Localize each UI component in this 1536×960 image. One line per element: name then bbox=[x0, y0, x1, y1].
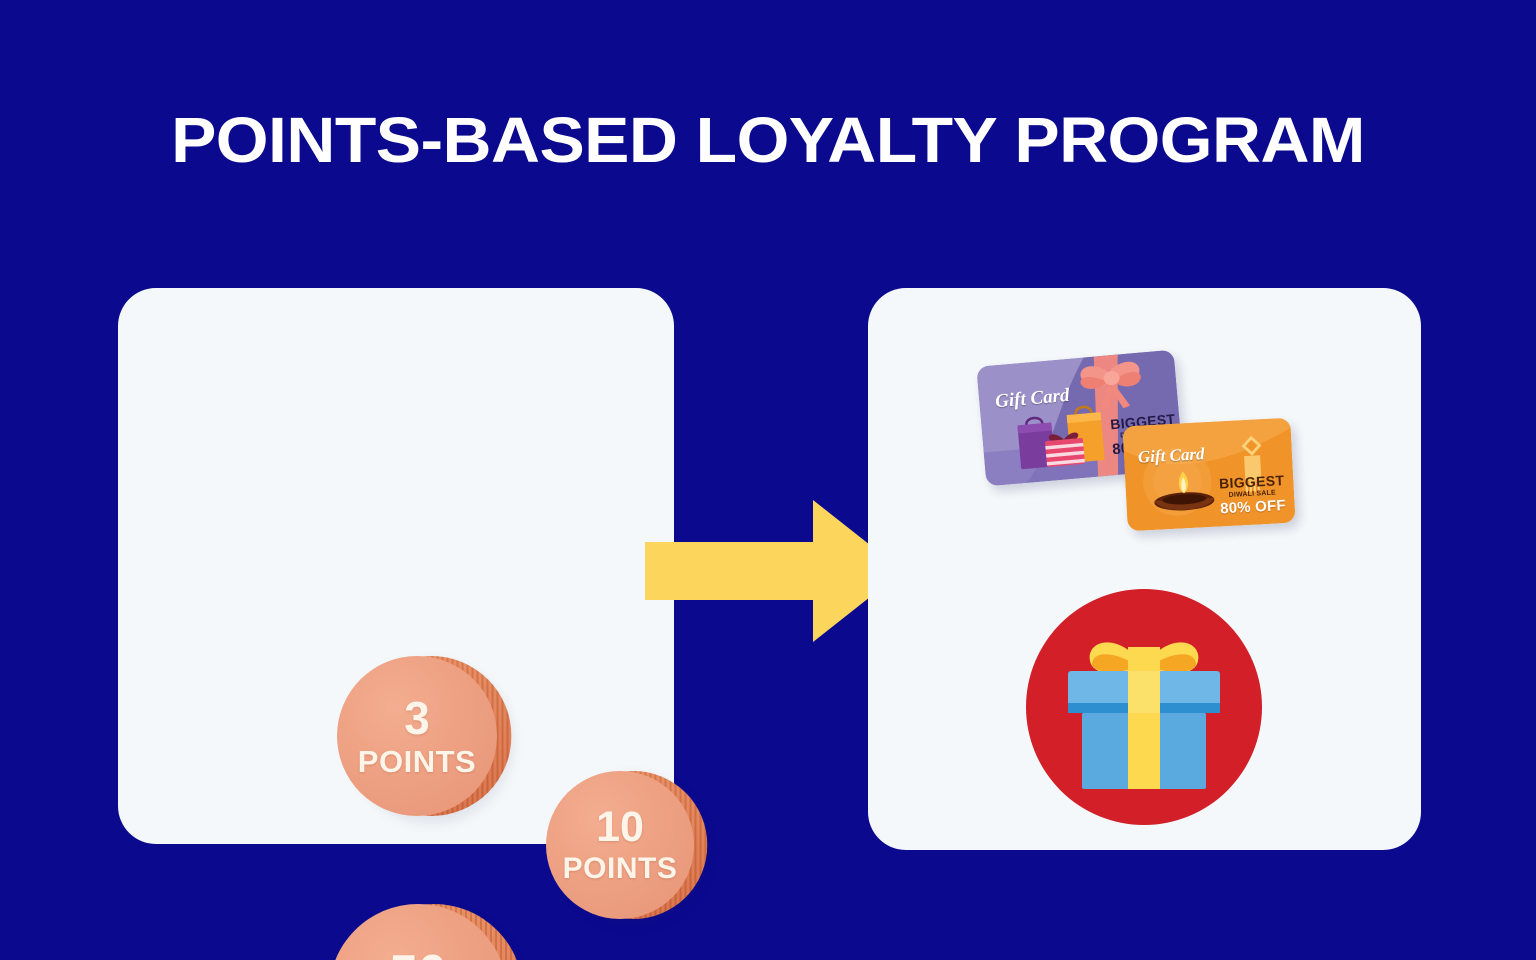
coin-face: 10 POINTS bbox=[546, 771, 694, 919]
earn-points-panel: 3 POINTS 10 POINTS 50 POINTS bbox=[118, 288, 674, 844]
coin-face: 50 POINTS bbox=[329, 904, 507, 960]
coin-face: 3 POINTS bbox=[337, 656, 497, 816]
gift-card-title: Gift Card bbox=[1137, 444, 1205, 467]
page-title: POINTS-BASED LOYALTY PROGRAM bbox=[0, 104, 1536, 176]
rewards-panel: Gift Card BIGGEST DIWALI SALE 80% OFF bbox=[868, 288, 1421, 850]
right-arrow-icon bbox=[645, 500, 903, 642]
points-coin-50[interactable]: 50 POINTS bbox=[329, 904, 507, 960]
promo-headline: BIGGEST bbox=[1219, 473, 1285, 490]
gift-box-icon[interactable] bbox=[1024, 587, 1264, 827]
points-coin-10[interactable]: 10 POINTS bbox=[546, 771, 694, 919]
coin-unit: POINTS bbox=[358, 746, 476, 777]
promo-discount: 80% OFF bbox=[1220, 498, 1286, 516]
coin-value: 3 bbox=[404, 695, 430, 741]
gift-card-promo: BIGGEST DIWALI SALE 80% OFF bbox=[1219, 473, 1287, 516]
gift-cards-group: Gift Card BIGGEST DIWALI SALE 80% OFF bbox=[975, 352, 1295, 542]
gift-card-orange[interactable]: Gift Card BIGGEST DIWALI SALE 80% OFF bbox=[1122, 418, 1295, 532]
coin-value: 50 bbox=[389, 948, 447, 960]
coin-value: 10 bbox=[596, 806, 644, 849]
points-coin-3[interactable]: 3 POINTS bbox=[337, 656, 497, 816]
coin-unit: POINTS bbox=[563, 854, 678, 884]
